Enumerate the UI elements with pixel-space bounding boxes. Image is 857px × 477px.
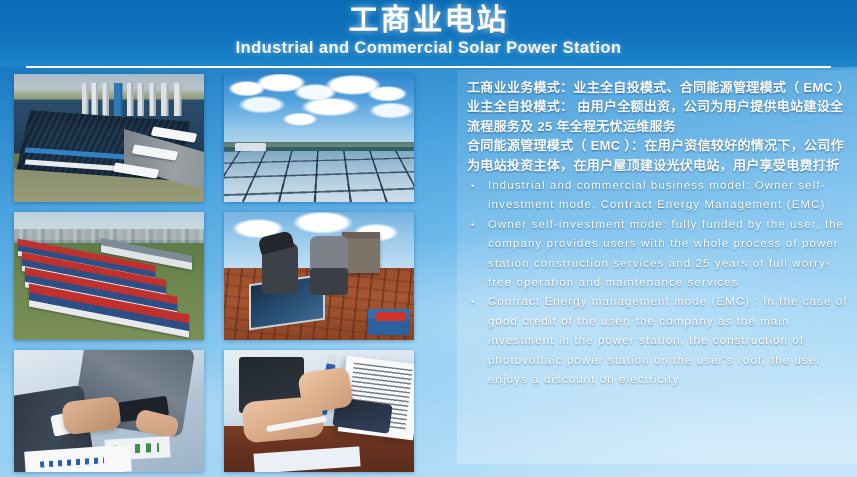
silo-cluster-shape: [82, 83, 188, 116]
flat-roof-array-photo: [224, 74, 414, 202]
handshake-hands-shape: [62, 395, 123, 435]
header-divider: [26, 66, 831, 68]
bullet-contract-energy-management: Contract Energy management mode (EMC) : …: [467, 293, 851, 390]
english-bullet-list: Industrial and commercial business model…: [467, 177, 851, 390]
bullet-business-model: Industrial and commercial business model…: [467, 177, 851, 216]
slide-header: 工商业电站 Industrial and Commercial Solar Po…: [0, 0, 857, 67]
chinese-paragraph-self-investment: 业主全自投模式： 由用户全额出资，公司为用户提供电站建设全流程服务及 25 年全…: [467, 97, 851, 136]
solar-panel-array-shape: [224, 151, 414, 202]
gallery-image-business-handshake-meeting[interactable]: Business handshake over a desk with docu…: [14, 350, 204, 472]
chinese-paragraph-emc: 合同能源管理模式（ EMC ）：在用户资信较好的情况下，公司作为电站投资主体，在…: [467, 136, 851, 175]
gallery-image-flat-roof-solar-panel-array-sky[interactable]: Flat rooftop photovoltaic panel array un…: [224, 74, 414, 202]
installers-photo: [224, 212, 414, 340]
cloudy-sky-shape: [224, 74, 414, 147]
gallery-image-aerial-industrial-plant-rooftop-solar[interactable]: Aerial view of industrial plant with roo…: [14, 74, 204, 202]
chinese-paragraph-business-models: 工商业业务模式：业主全自投模式、合同能源管理模式（ EMC ）: [467, 78, 851, 97]
worker-figure-shape: [262, 243, 298, 294]
aerial-industrial-plant-photo: [14, 74, 204, 202]
gallery-image-red-roof-factory-park-solar[interactable]: Industrial park of red-roofed factory bu…: [14, 212, 204, 340]
contract-signing-photo: [224, 350, 414, 472]
gallery-image-signing-contract-pen-document[interactable]: Hands exchanging a pen and a contract do…: [224, 350, 414, 472]
description-panel: 工商业业务模式：业主全自投模式、合同能源管理模式（ EMC ） 业主全自投模式：…: [457, 70, 857, 464]
page-title-english: Industrial and Commercial Solar Power St…: [0, 38, 857, 59]
worker-figure-shape: [310, 236, 348, 292]
slide-root: 工商业电站 Industrial and Commercial Solar Po…: [0, 0, 857, 477]
gallery-image-workers-installing-panel-tile-roof[interactable]: Two technicians installing a solar panel…: [224, 212, 414, 340]
chinese-description-block: 工商业业务模式：业主全自投模式、合同能源管理模式（ EMC ） 业主全自投模式：…: [467, 78, 851, 175]
photo-gallery-grid: Aerial view of industrial plant with roo…: [14, 74, 414, 474]
page-title-chinese: 工商业电站: [0, 4, 857, 38]
factory-park-photo: [14, 212, 204, 340]
toolbox-shape: [368, 309, 410, 335]
bullet-owner-self-investment: Owner self-investment mode: fully funded…: [467, 216, 851, 294]
handshake-photo: [14, 350, 204, 472]
